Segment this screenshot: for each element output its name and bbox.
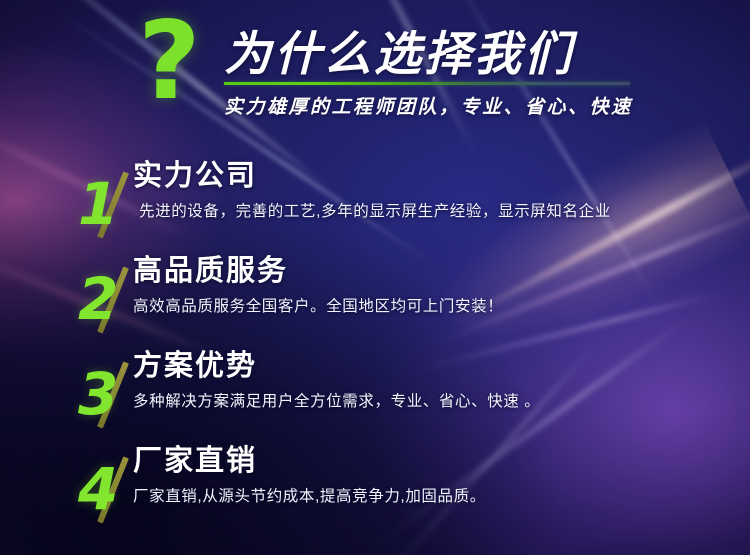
promo-banner: ? 为什么选择我们 实力雄厚的工程师团队，专业、省心、快速 1 实力公司 先进的…: [0, 0, 750, 555]
feature-text-block: 方案优势 多种解决方案满足用户全方位需求，专业、省心、快速 。: [133, 350, 540, 411]
feature-text-block: 实力公司 先进的设备，完善的工艺,多年的显示屏生产经验，显示屏知名企业: [133, 160, 611, 221]
title-block: 为什么选择我们 实力雄厚的工程师团队，专业、省心、快速: [224, 26, 634, 119]
feature-list: 1 实力公司 先进的设备，完善的工艺,多年的显示屏生产经验，显示屏知名企业 2 …: [0, 160, 750, 540]
feature-number: 4: [78, 451, 118, 527]
feature-heading: 实力公司: [133, 160, 611, 193]
feature-text-block: 高品质服务 高效高品质服务全国客户。全国地区均可上门安装！: [133, 255, 503, 316]
feature-heading: 厂家直销: [133, 445, 486, 478]
feature-heading: 方案优势: [133, 350, 540, 383]
feature-item: 3 方案优势 多种解决方案满足用户全方位需求，专业、省心、快速 。: [0, 350, 750, 445]
feature-description: 厂家直销,从源头节约成本,提高竞争力,加固品质。: [133, 484, 486, 506]
feature-number: 1: [78, 166, 118, 242]
title-underline-rule: [224, 82, 630, 85]
feature-text-block: 厂家直销 厂家直销,从源头节约成本,提高竞争力,加固品质。: [133, 445, 486, 506]
question-mark-icon: ?: [138, 8, 201, 116]
feature-number: 3: [78, 356, 118, 432]
feature-item: 2 高品质服务 高效高品质服务全国客户。全国地区均可上门安装！: [0, 255, 750, 350]
feature-description: 多种解决方案满足用户全方位需求，专业、省心、快速 。: [133, 389, 540, 411]
feature-item: 4 厂家直销 厂家直销,从源头节约成本,提高竞争力,加固品质。: [0, 445, 750, 540]
feature-description: 先进的设备，完善的工艺,多年的显示屏生产经验，显示屏知名企业: [133, 199, 611, 221]
feature-item: 1 实力公司 先进的设备，完善的工艺,多年的显示屏生产经验，显示屏知名企业: [0, 160, 750, 255]
page-title: 为什么选择我们: [224, 26, 634, 81]
feature-heading: 高品质服务: [133, 255, 503, 288]
page-subtitle: 实力雄厚的工程师团队，专业、省心、快速: [224, 92, 634, 119]
banner-header: ? 为什么选择我们 实力雄厚的工程师团队，专业、省心、快速: [0, 0, 750, 135]
feature-number: 2: [78, 261, 118, 337]
feature-description: 高效高品质服务全国客户。全国地区均可上门安装！: [133, 294, 503, 316]
